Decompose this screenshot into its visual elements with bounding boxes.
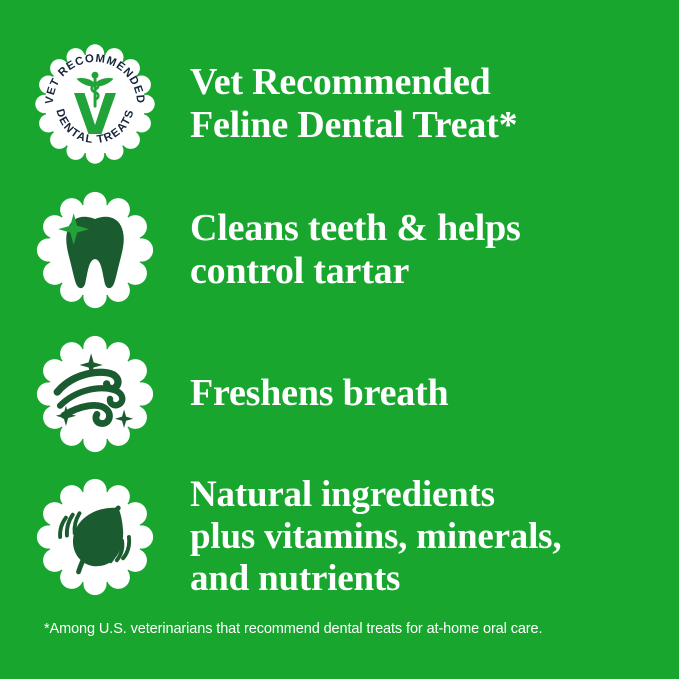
text-slot-vet-recommended: Vet Recommended Feline Dental Treat* bbox=[190, 61, 679, 148]
feature-text-vet-recommended: Vet Recommended Feline Dental Treat* bbox=[190, 61, 661, 148]
feature-text-freshens-breath: Freshens breath bbox=[190, 372, 661, 415]
text-slot-natural-ingredients: Natural ingredients plus vitamins, miner… bbox=[190, 474, 679, 601]
feature-row-freshens-breath: Freshens breath bbox=[0, 334, 679, 454]
leaf-motion-icon bbox=[33, 475, 157, 599]
wind-sparkle-icon bbox=[33, 332, 157, 456]
vet-seal-icon: VET RECOMMENDED DENTAL TREATS bbox=[31, 40, 159, 168]
text-slot-cleans-teeth: Cleans teeth & helps control tartar bbox=[190, 207, 679, 294]
tooth-sparkle-icon bbox=[33, 188, 157, 312]
feature-row-vet-recommended: VET RECOMMENDED DENTAL TREATS bbox=[0, 42, 679, 166]
feature-row-natural-ingredients: Natural ingredients plus vitamins, miner… bbox=[0, 475, 679, 599]
icon-slot-tooth bbox=[0, 188, 190, 312]
feature-row-cleans-teeth: Cleans teeth & helps control tartar bbox=[0, 190, 679, 310]
text-slot-freshens-breath: Freshens breath bbox=[190, 372, 679, 415]
benefits-panel: VET RECOMMENDED DENTAL TREATS bbox=[0, 0, 679, 679]
footnote-disclaimer: *Among U.S. veterinarians that recommend… bbox=[44, 620, 644, 639]
feature-text-natural-ingredients: Natural ingredients plus vitamins, miner… bbox=[190, 474, 661, 601]
icon-slot-wind bbox=[0, 332, 190, 456]
icon-slot-vet-seal: VET RECOMMENDED DENTAL TREATS bbox=[0, 40, 190, 168]
icon-slot-leaf bbox=[0, 475, 190, 599]
feature-text-cleans-teeth: Cleans teeth & helps control tartar bbox=[190, 207, 661, 294]
